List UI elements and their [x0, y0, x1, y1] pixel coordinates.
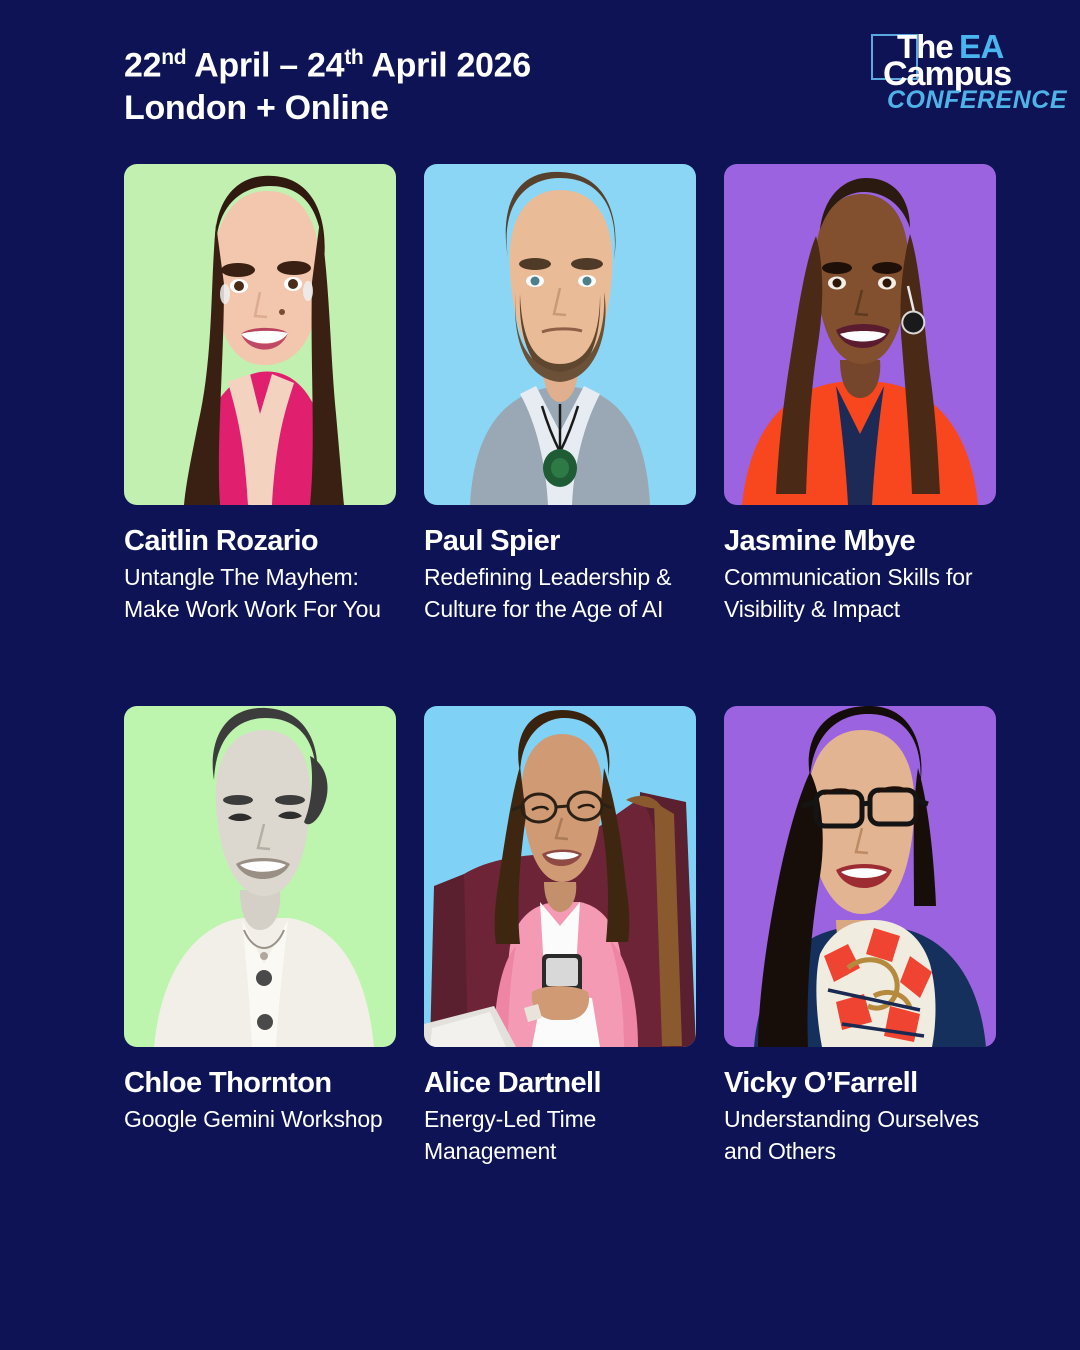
- speaker-card[interactable]: Jasmine Mbye Communication Skills for Vi…: [724, 164, 996, 625]
- conference-speaker-poster: 22nd April – 24th April 2026 London + On…: [0, 0, 1080, 1350]
- event-date-line: 22nd April – 24th April 2026: [124, 36, 531, 87]
- speaker-card[interactable]: Paul Spier Redefining Leadership & Cultu…: [424, 164, 696, 625]
- speaker-topic: Communication Skills for Visibility & Im…: [724, 561, 996, 625]
- speaker-name: Jasmine Mbye: [724, 524, 996, 558]
- speaker-name: Chloe Thornton: [124, 1066, 396, 1100]
- speaker-photo: [124, 706, 396, 1047]
- event-date-location: 22nd April – 24th April 2026 London + On…: [124, 36, 531, 130]
- speaker-name: Caitlin Rozario: [124, 524, 396, 558]
- speaker-topic: Redefining Leadership & Culture for the …: [424, 561, 696, 625]
- speaker-name: Paul Spier: [424, 524, 696, 558]
- speaker-card[interactable]: Caitlin Rozario Untangle The Mayhem: Mak…: [124, 164, 396, 625]
- speaker-photo: [124, 164, 396, 505]
- date-year: April 2026: [363, 46, 530, 84]
- event-location-line: London + Online: [124, 87, 531, 130]
- logo-word-conference: CONFERENCE: [887, 88, 1067, 113]
- date-middle: April – 24: [186, 46, 344, 84]
- speaker-topic: Google Gemini Workshop: [124, 1103, 396, 1135]
- speaker-card[interactable]: Alice Dartnell Energy-Led Time Managemen…: [424, 706, 696, 1167]
- ea-campus-conference-logo: The EA Campus CONFERENCE: [871, 28, 1036, 110]
- speaker-topic: Understanding Ourselves and Others: [724, 1103, 996, 1167]
- speaker-photo: [424, 164, 696, 505]
- speaker-card[interactable]: Chloe Thornton Google Gemini Workshop: [124, 706, 396, 1167]
- speaker-photo: [724, 164, 996, 505]
- speaker-grid: Caitlin Rozario Untangle The Mayhem: Mak…: [124, 164, 996, 1167]
- speaker-topic: Untangle The Mayhem: Make Work Work For …: [124, 561, 396, 625]
- poster-header: 22nd April – 24th April 2026 London + On…: [0, 0, 1080, 140]
- speaker-name: Alice Dartnell: [424, 1066, 696, 1100]
- speaker-topic: Energy-Led Time Management: [424, 1103, 696, 1167]
- date-start-day: 22: [124, 46, 161, 84]
- speaker-name: Vicky O’Farrell: [724, 1066, 996, 1100]
- speaker-photo: [724, 706, 996, 1047]
- speaker-card[interactable]: Vicky O’Farrell Understanding Ourselves …: [724, 706, 996, 1167]
- date-end-ordinal: th: [344, 46, 363, 69]
- date-start-ordinal: nd: [161, 46, 186, 69]
- speaker-photo: [424, 706, 696, 1047]
